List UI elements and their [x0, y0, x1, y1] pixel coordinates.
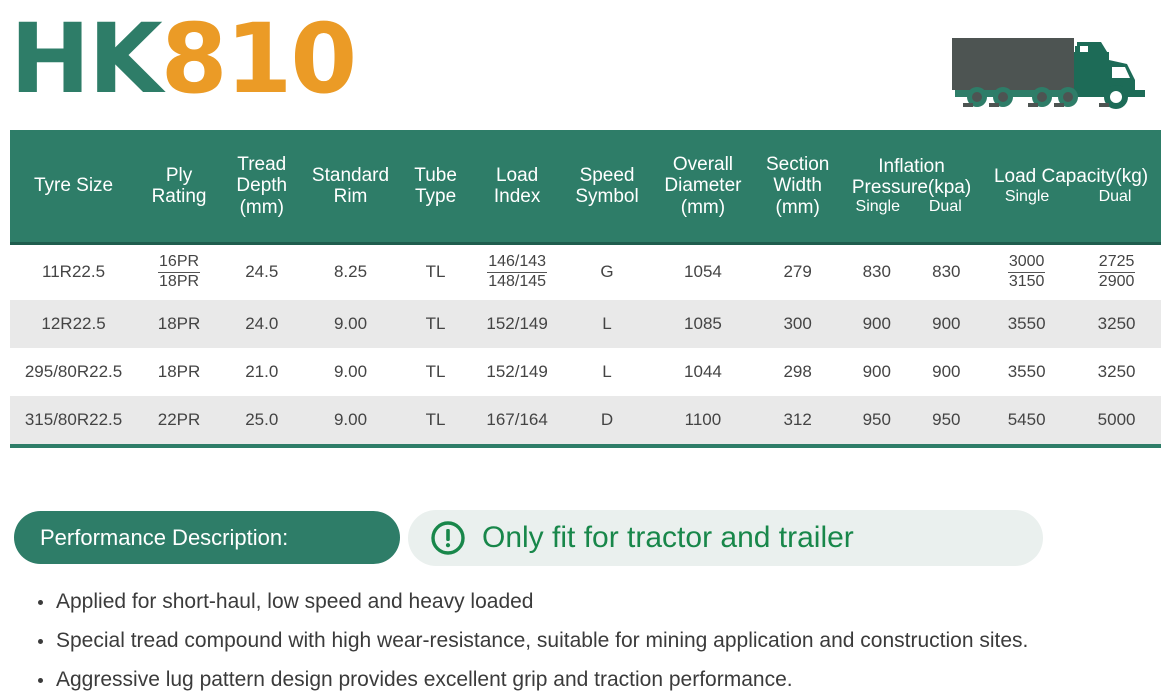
col-subheader-capacity-dual: Dual: [1071, 188, 1159, 206]
cell-capacity-single: 3000 3150: [981, 244, 1072, 300]
col-header-label: Standard Rim: [305, 165, 397, 208]
cell-overall-diameter: 1085: [653, 300, 754, 348]
fitment-note-box: Only fit for tractor and trailer: [408, 510, 1043, 566]
cell-section-width: 279: [753, 244, 842, 300]
cell-tube-type: TL: [398, 300, 472, 348]
performance-header-row: Performance Description: Only fit for tr…: [14, 510, 1157, 566]
stacked-value: 146/143 148/145: [487, 254, 547, 291]
stacked-bottom: 3150: [1008, 273, 1046, 291]
performance-description-label: Performance Description:: [40, 525, 288, 551]
cell-ply-rating: 18PR: [137, 300, 221, 348]
table-row: 295/80R22.5 18PR 21.0 9.00 TL 152/149 L …: [10, 348, 1161, 396]
exclamation-circle-icon: [430, 520, 466, 556]
cell-tube-type: TL: [398, 244, 472, 300]
cell-capacity-single: 5450: [981, 396, 1072, 444]
cell-tread-depth: 25.0: [221, 396, 303, 444]
cell-capacity-dual: 3250: [1072, 300, 1161, 348]
stacked-top: 146/143: [487, 254, 547, 273]
col-subheader-capacity-single: Single: [983, 188, 1071, 206]
cell-tube-type: TL: [398, 348, 472, 396]
cell-tread-depth: 21.0: [221, 348, 303, 396]
col-header-ply-rating: Ply Rating: [137, 130, 221, 244]
col-header-label: Ply Rating: [139, 165, 219, 208]
cell-standard-rim: 9.00: [303, 300, 399, 348]
cell-pressure-dual: 900: [912, 348, 982, 396]
col-header-label: Section Width (mm): [755, 154, 840, 218]
stacked-value: 2725 2900: [1098, 254, 1136, 291]
col-header-label: Load Capacity(kg): [983, 166, 1159, 187]
brand-header: HK810: [0, 0, 1171, 130]
cell-capacity-dual: 3250: [1072, 348, 1161, 396]
cell-overall-diameter: 1054: [653, 244, 754, 300]
col-header-speed-symbol: Speed Symbol: [561, 130, 652, 244]
cell-section-width: 300: [753, 300, 842, 348]
table-header-row: Tyre Size Ply Rating Tread Depth (mm) St…: [10, 130, 1161, 244]
cell-ply-rating: 18PR: [137, 348, 221, 396]
performance-description-pill: Performance Description:: [14, 511, 400, 564]
tyre-spec-table: Tyre Size Ply Rating Tread Depth (mm) St…: [10, 130, 1161, 444]
col-header-overall-diameter: Overall Diameter (mm): [653, 130, 754, 244]
cell-speed-symbol: L: [561, 300, 652, 348]
stacked-value: 3000 3150: [1008, 254, 1046, 291]
cell-pressure-single: 900: [842, 300, 912, 348]
cell-standard-rim: 9.00: [303, 348, 399, 396]
cell-standard-rim: 8.25: [303, 244, 399, 300]
truck-trailer-icon: [949, 22, 1149, 114]
stacked-top: 2725: [1098, 254, 1136, 273]
cell-tube-type: TL: [398, 396, 472, 444]
col-header-label: Speed Symbol: [563, 165, 650, 208]
cell-pressure-dual: 900: [912, 300, 982, 348]
cell-pressure-single: 830: [842, 244, 912, 300]
list-item: Aggressive lug pattern design provides e…: [28, 660, 1143, 699]
cell-ply-rating: 22PR: [137, 396, 221, 444]
feature-list: Applied for short-haul, low speed and he…: [14, 582, 1157, 699]
stacked-top: 16PR: [158, 254, 200, 273]
brand-prefix: HK: [10, 3, 161, 115]
col-subheader-pressure-dual: Dual: [912, 198, 980, 216]
stacked-top: 3000: [1008, 254, 1046, 273]
page-title: HK810: [10, 0, 355, 124]
col-header-load-capacity: Load Capacity(kg) Single Dual: [981, 130, 1161, 244]
cell-tyre-size: 295/80R22.5: [10, 348, 137, 396]
col-header-section-width: Section Width (mm): [753, 130, 842, 244]
col-header-label: Load Index: [475, 165, 560, 208]
cell-speed-symbol: D: [561, 396, 652, 444]
table-row: 12R22.5 18PR 24.0 9.00 TL 152/149 L 1085…: [10, 300, 1161, 348]
stacked-bottom: 2900: [1098, 273, 1136, 291]
cell-speed-symbol: L: [561, 348, 652, 396]
brand-number: 810: [161, 3, 355, 115]
list-item: Special tread compound with high wear-re…: [28, 621, 1143, 660]
cell-tread-depth: 24.0: [221, 300, 303, 348]
cell-capacity-dual: 2725 2900: [1072, 244, 1161, 300]
col-subheader-pressure-single: Single: [844, 198, 912, 216]
cell-load-index: 167/164: [473, 396, 562, 444]
stacked-value: 16PR 18PR: [158, 254, 200, 291]
col-header-tread-depth: Tread Depth (mm): [221, 130, 303, 244]
cell-tread-depth: 24.5: [221, 244, 303, 300]
cell-pressure-single: 950: [842, 396, 912, 444]
cell-load-index: 146/143 148/145: [473, 244, 562, 300]
cell-load-index: 152/149: [473, 348, 562, 396]
col-header-tube-type: Tube Type: [398, 130, 472, 244]
stacked-bottom: 18PR: [158, 273, 200, 291]
cell-tyre-size: 11R22.5: [10, 244, 137, 300]
cell-standard-rim: 9.00: [303, 396, 399, 444]
spec-table-container: Tyre Size Ply Rating Tread Depth (mm) St…: [10, 130, 1161, 448]
cell-section-width: 298: [753, 348, 842, 396]
cell-section-width: 312: [753, 396, 842, 444]
cell-pressure-dual: 950: [912, 396, 982, 444]
cell-capacity-dual: 5000: [1072, 396, 1161, 444]
col-header-label: Inflation Pressure(kpa): [844, 156, 979, 199]
col-header-tyre-size: Tyre Size: [10, 130, 137, 244]
cell-overall-diameter: 1100: [653, 396, 754, 444]
cell-overall-diameter: 1044: [653, 348, 754, 396]
col-header-load-index: Load Index: [473, 130, 562, 244]
performance-section: Performance Description: Only fit for tr…: [0, 510, 1171, 699]
cell-tyre-size: 315/80R22.5: [10, 396, 137, 444]
cell-capacity-single: 3550: [981, 348, 1072, 396]
cell-load-index: 152/149: [473, 300, 562, 348]
col-header-label: Tread Depth (mm): [223, 154, 301, 218]
cell-tyre-size: 12R22.5: [10, 300, 137, 348]
table-row: 315/80R22.5 22PR 25.0 9.00 TL 167/164 D …: [10, 396, 1161, 444]
list-item: Applied for short-haul, low speed and he…: [28, 582, 1143, 621]
fitment-note-text: Only fit for tractor and trailer: [482, 521, 854, 555]
table-row: 11R22.5 16PR 18PR 24.5 8.25 TL 146/143 1…: [10, 244, 1161, 300]
col-header-label: Overall Diameter (mm): [655, 154, 752, 218]
cell-pressure-single: 900: [842, 348, 912, 396]
stacked-bottom: 148/145: [487, 273, 547, 291]
cell-speed-symbol: G: [561, 244, 652, 300]
col-header-inflation-pressure: Inflation Pressure(kpa) Single Dual: [842, 130, 981, 244]
col-header-label: Tyre Size: [34, 175, 113, 196]
col-header-label: Tube Type: [400, 165, 470, 208]
cell-capacity-single: 3550: [981, 300, 1072, 348]
cell-pressure-dual: 830: [912, 244, 982, 300]
cell-ply-rating: 16PR 18PR: [137, 244, 221, 300]
col-header-standard-rim: Standard Rim: [303, 130, 399, 244]
